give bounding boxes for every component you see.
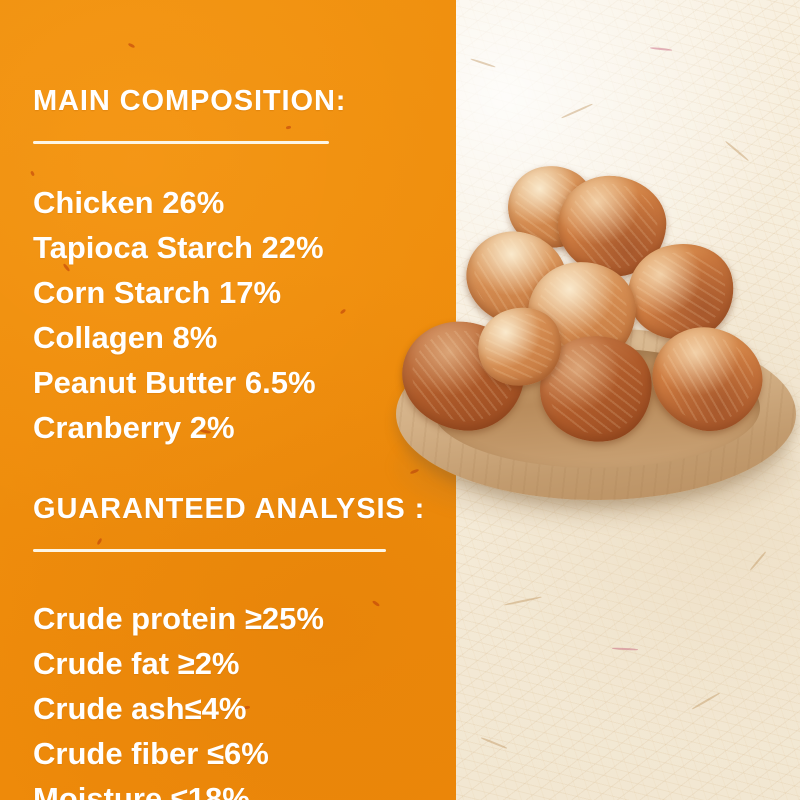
list-item: Collagen 8%	[33, 315, 346, 360]
paper-fiber	[561, 103, 593, 119]
list-item: Moisture ≤18%	[33, 776, 425, 800]
product-info-infographic: MAIN COMPOSITION: Chicken 26% Tapioca St…	[0, 0, 800, 800]
composition-section: MAIN COMPOSITION: Chicken 26% Tapioca St…	[33, 62, 346, 450]
list-item: Tapioca Starch 22%	[33, 225, 346, 270]
analysis-divider	[33, 549, 386, 552]
paper-fiber	[612, 647, 638, 650]
list-item: Crude fiber ≤6%	[33, 731, 425, 776]
list-item: Corn Starch 17%	[33, 270, 346, 315]
list-item: Crude fat ≥2%	[33, 641, 425, 686]
list-item: Cranberry 2%	[33, 405, 346, 450]
composition-divider	[33, 141, 329, 144]
list-item: Chicken 26%	[33, 180, 346, 225]
analysis-title: GUARANTEED ANALYSIS :	[33, 494, 425, 524]
composition-title: MAIN COMPOSITION:	[33, 86, 346, 116]
list-item: Crude protein ≥25%	[33, 596, 425, 641]
composition-list: Chicken 26% Tapioca Starch 22% Corn Star…	[33, 180, 346, 450]
paper-fiber	[470, 58, 495, 68]
paper-fiber	[504, 596, 542, 606]
analysis-section: GUARANTEED ANALYSIS : Crude protein ≥25%…	[33, 470, 425, 800]
list-item: Crude ash≤4%	[33, 686, 425, 731]
list-item: Peanut Butter 6.5%	[33, 360, 346, 405]
text-content: MAIN COMPOSITION: Chicken 26% Tapioca St…	[0, 0, 456, 800]
paper-fiber	[650, 47, 672, 51]
paper-fiber	[692, 692, 721, 710]
paper-fiber	[481, 737, 508, 749]
analysis-list: Crude protein ≥25% Crude fat ≥2% Crude a…	[33, 596, 425, 800]
